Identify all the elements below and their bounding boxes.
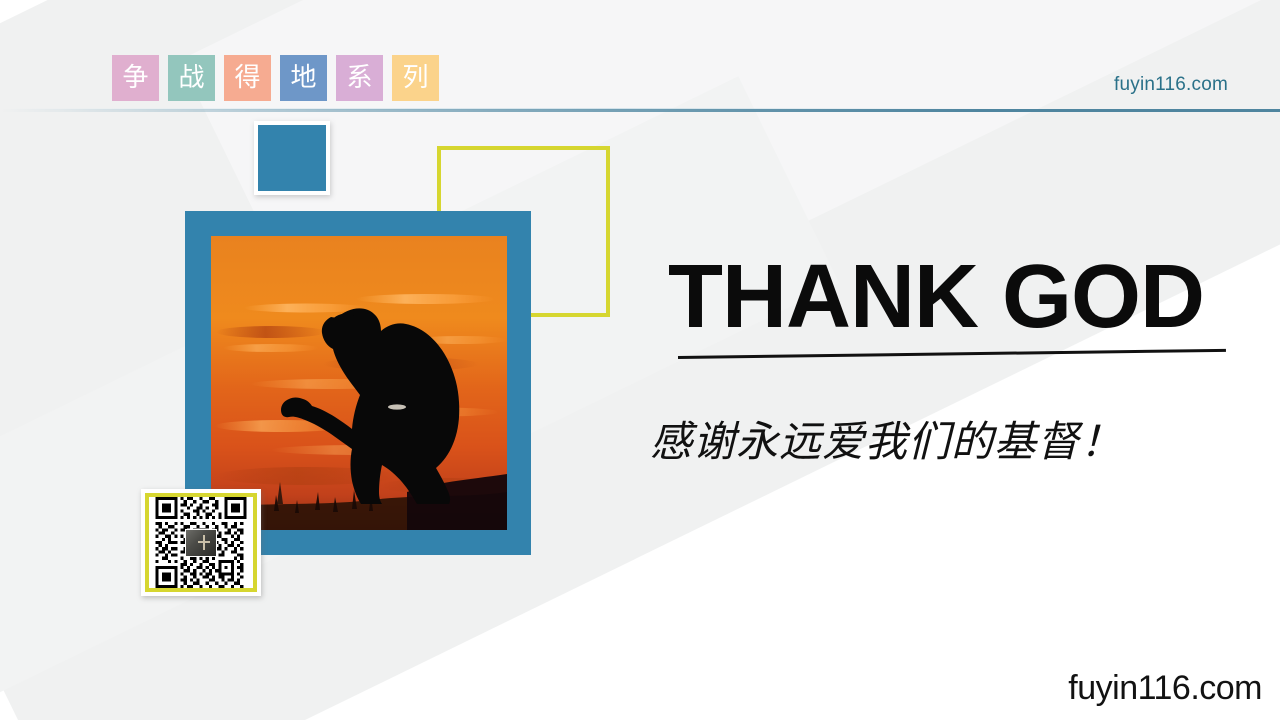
series-tile-char-3: 地 <box>290 65 316 91</box>
series-tile-2: 得 <box>224 55 271 101</box>
qr-code-block[interactable] <box>141 489 261 596</box>
page-subtitle: 感谢永远爱我们的基督！ <box>650 408 1123 469</box>
decor-blue-square <box>254 121 330 195</box>
series-title-tiles: 争 战 得 地 系 列 <box>112 55 439 101</box>
qr-code-image[interactable] <box>149 497 253 588</box>
qr-center-logo <box>185 529 217 557</box>
series-tile-0: 争 <box>112 55 159 101</box>
series-tile-3: 地 <box>280 55 327 101</box>
qr-center-logo-image <box>186 530 216 556</box>
series-tile-char-1: 战 <box>178 65 204 91</box>
title-underline-line <box>678 349 1226 359</box>
page-title: THANK GOD <box>668 252 1204 342</box>
series-tile-4: 系 <box>336 55 383 101</box>
series-tile-char-2: 得 <box>234 65 260 91</box>
presentation-slide: 争 战 得 地 系 列 fuyin116.com <box>0 0 1280 720</box>
footer-watermark: fuyin116.com <box>1068 669 1262 708</box>
decor-blue-square-fill <box>258 125 326 191</box>
series-tile-char-4: 系 <box>346 65 372 91</box>
qr-code-border <box>145 493 257 592</box>
header-divider-line <box>0 109 1280 112</box>
prayer-photo <box>211 236 507 530</box>
series-tile-1: 战 <box>168 55 215 101</box>
header-site-url: fuyin116.com <box>1114 74 1228 96</box>
series-tile-char-5: 列 <box>402 65 428 91</box>
header-divider <box>0 108 1280 113</box>
title-underline <box>678 352 1226 362</box>
series-tile-5: 列 <box>392 55 439 101</box>
series-tile-char-0: 争 <box>122 65 148 91</box>
